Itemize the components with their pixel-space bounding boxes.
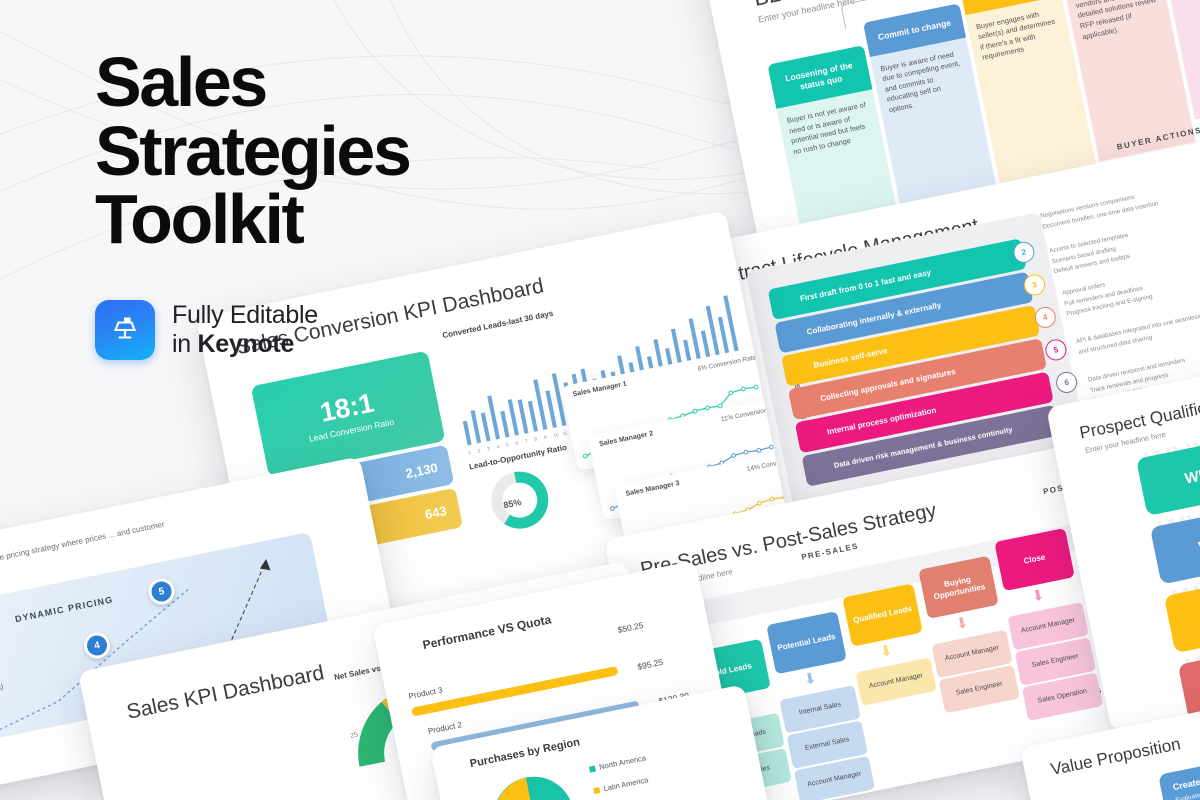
badge-prefix: in <box>172 330 198 358</box>
badge-line-1: Fully Editable <box>172 301 318 330</box>
title-line-3: Toolkit <box>95 185 409 254</box>
pps-role: Account Manager <box>855 657 936 705</box>
pvq-title: Performance VS Quota <box>421 612 552 652</box>
pie-legend-item: Latin America <box>593 775 649 795</box>
down-arrow-icon: ⬇ <box>954 613 970 633</box>
slide-canvas: Sales Strategies Toolkit Fully Editable … <box>0 0 1200 800</box>
pvq-row-label: Product 2 <box>427 720 462 736</box>
prq-item[interactable]: WHY <box>1136 417 1200 516</box>
skd-title: Sales KPI Dashboard <box>125 661 327 725</box>
pie-chart-svg <box>477 760 590 800</box>
down-arrow-icon: ⬇ <box>802 669 818 689</box>
vlp-item-title: Create Differential Value <box>1172 751 1200 792</box>
clm-bullet-group: Approval orders Pull reminders and deadl… <box>1061 272 1153 320</box>
pvq-row-value: $95.25 <box>636 657 663 672</box>
hero-block: Sales Strategies Toolkit Fully Editable … <box>95 48 409 360</box>
pvq-row-value: $50.25 <box>617 620 644 635</box>
badge-app-name: Keynote <box>198 330 295 358</box>
down-arrow-icon: ⬇ <box>1030 586 1046 606</box>
title-line-2: Strategies <box>95 117 409 186</box>
page-title: Sales Strategies Toolkit <box>95 48 409 254</box>
keynote-podium-icon <box>95 300 155 360</box>
legend-swatch <box>589 765 596 772</box>
pvq-row-label: Product 3 <box>408 685 443 701</box>
badge-line-2: in Keynote <box>172 330 318 359</box>
vlp-title: Value Proposition <box>1049 734 1182 780</box>
clm-bullet-group: Negotiations versions comparisons Docume… <box>1040 188 1160 232</box>
badge-text: Fully Editable in Keynote <box>172 301 318 359</box>
lead-to-opportunity-donut: Lead-to-Opportunity Ratio 85% <box>468 443 582 545</box>
editable-badge: Fully Editable in Keynote <box>95 300 409 360</box>
legend-label: Latin America <box>603 775 649 793</box>
kpi-bar-value: 2,130 <box>404 459 439 480</box>
pps-stage[interactable]: Potential Leads <box>766 611 847 674</box>
legend-label: North America <box>598 753 646 771</box>
title-line-1: Sales <box>95 48 409 117</box>
down-arrow-icon: ⬇ <box>878 641 894 661</box>
clm-bullet-group: Access to selected templates Scenario ba… <box>1049 231 1134 278</box>
pie-legend-item: North America <box>589 753 647 773</box>
kpi-bar-value: 643 <box>424 503 448 522</box>
legend-swatch <box>593 787 600 794</box>
